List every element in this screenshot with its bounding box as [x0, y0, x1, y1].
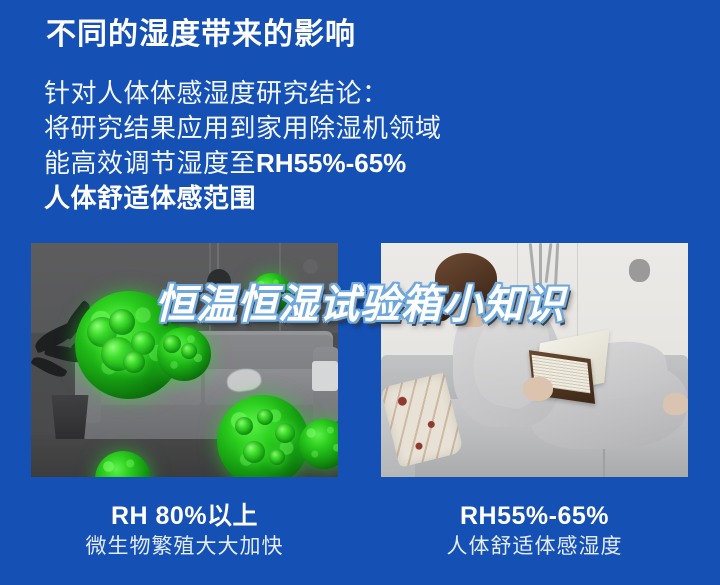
caption-row: RH 80%以上 微生物繁殖大大加快 RH55%-65% 人体舒适体感湿度 — [0, 500, 720, 585]
poster-root: 不同的湿度带来的影响 针对人体体感湿度研究结论： 将研究结果应用到家用除湿机领域… — [0, 0, 720, 585]
caption-comfort-humidity: RH55%-65% 人体舒适体感湿度 — [381, 500, 688, 562]
microbe-bleb-icon — [123, 351, 145, 373]
caption-sub-label: 微生物繁殖大大加快 — [31, 532, 338, 562]
intro-line-1: 针对人体体感湿度研究结论： — [44, 76, 442, 111]
caption-main-label: RH55%-65% — [381, 500, 688, 532]
intro-line-3-text: 能高效调节湿度至 — [44, 148, 256, 178]
intro-line-4: 人体舒适体感范围 — [44, 181, 442, 216]
person-foot — [663, 393, 688, 415]
humidity-range-value: RH55%-65% — [256, 148, 406, 178]
overlay-banner-title: 恒温恒湿试验箱小知识 — [0, 272, 720, 330]
microbe-bleb-icon — [269, 449, 285, 465]
microbe-bleb-icon — [257, 409, 273, 425]
intro-line-2: 将研究结果应用到家用除湿机领域 — [44, 111, 442, 146]
intro-paragraph: 针对人体体感湿度研究结论： 将研究结果应用到家用除湿机领域 能高效调节湿度至RH… — [44, 76, 442, 216]
microbe-bleb-icon — [163, 335, 181, 353]
plant-pot-icon — [49, 395, 91, 439]
caption-main-label: RH 80%以上 — [31, 500, 338, 532]
page-title: 不同的湿度带来的影响 — [46, 16, 356, 54]
intro-line-3: 能高效调节湿度至RH55%-65% — [44, 146, 442, 181]
microbe-bleb-icon — [275, 423, 295, 443]
caption-sub-label: 人体舒适体感湿度 — [381, 532, 688, 562]
side-table — [312, 361, 338, 391]
microbe-bleb-icon — [243, 441, 265, 463]
microbe-bleb-icon — [235, 417, 253, 435]
caption-high-humidity: RH 80%以上 微生物繁殖大大加快 — [31, 500, 338, 562]
microbe-sphere-icon — [217, 395, 309, 477]
microbe-bleb-icon — [181, 343, 197, 359]
person-hand — [523, 377, 553, 401]
